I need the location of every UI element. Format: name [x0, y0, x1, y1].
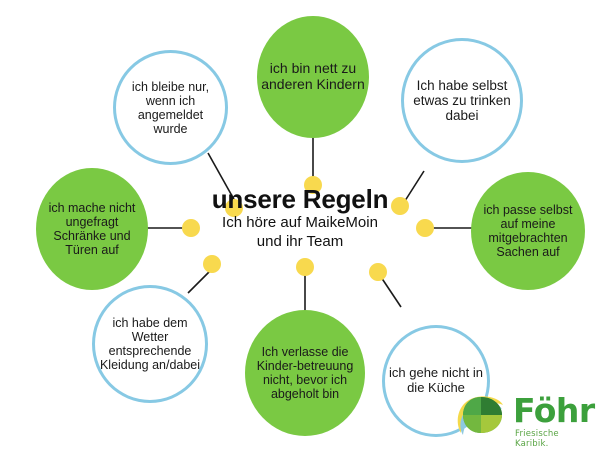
- rule-bubble-kleidung-label: ich habe dem Wetter entsprechende Kleidu…: [95, 316, 205, 372]
- rule-bubble-abgeholt-label: Ich verlasse die Kinder-betreuung nicht,…: [245, 345, 365, 401]
- rule-bubble-abgeholt[interactable]: Ich verlasse die Kinder-betreuung nicht,…: [245, 310, 365, 436]
- infographic-canvas: ich bleibe nur, wenn ich angemeldet wurd…: [0, 0, 600, 450]
- rule-bubble-angemeldet[interactable]: ich bleibe nur, wenn ich angemeldet wurd…: [113, 50, 228, 165]
- rule-bubble-kleidung[interactable]: ich habe dem Wetter entsprechende Kleidu…: [92, 285, 208, 403]
- rule-bubble-sachen[interactable]: ich passe selbst auf meine mitgebrachten…: [471, 172, 585, 290]
- page-title: unsere Regeln: [150, 186, 450, 213]
- logo-leaf-quadrant-1-icon: [481, 397, 502, 415]
- foehr-logo: Föhr Friesische Karibik.: [455, 393, 595, 445]
- center-title-block: unsere Regeln Ich höre auf MaikeMoin und…: [150, 186, 450, 251]
- node-dot-kueche: [369, 263, 387, 281]
- rule-bubble-sachen-label: ich passe selbst auf meine mitgebrachten…: [471, 203, 585, 259]
- rule-bubble-angemeldet-label: ich bleibe nur, wenn ich angemeldet wurd…: [116, 80, 225, 136]
- rule-bubble-kueche-label: ich gehe nicht in die Küche: [385, 366, 487, 395]
- rule-bubble-schraenke-label: ich mache nicht ungefragt Schränke und T…: [36, 201, 148, 257]
- page-subtitle-line-1: Ich höre auf MaikeMoin: [150, 215, 450, 232]
- node-dot-abgeholt: [296, 258, 314, 276]
- rule-bubble-nett-label: ich bin nett zu anderen Kindern: [257, 61, 369, 92]
- rule-bubble-trinken[interactable]: Ich habe selbst etwas zu trinken dabei: [401, 38, 523, 163]
- connector-line-kleidung: [188, 270, 211, 293]
- connector-line-kueche: [381, 277, 401, 307]
- logo-tagline: Friesische Karibik.: [515, 429, 595, 449]
- logo-wordmark: Föhr: [513, 391, 595, 430]
- rule-bubble-nett[interactable]: ich bin nett zu anderen Kindern: [257, 16, 369, 138]
- rule-bubble-schraenke[interactable]: ich mache nicht ungefragt Schränke und T…: [36, 168, 148, 290]
- node-dot-kleidung: [203, 255, 221, 273]
- foehr-logo-mark-icon: [455, 393, 511, 441]
- logo-leaf-quadrant-2-icon: [481, 415, 502, 433]
- rule-bubble-trinken-label: Ich habe selbst etwas zu trinken dabei: [404, 78, 520, 123]
- logo-leaf-quadrant-3-icon: [463, 415, 481, 433]
- page-subtitle-line-2: und ihr Team: [150, 234, 450, 251]
- logo-leaf-quadrant-4-icon: [463, 397, 481, 415]
